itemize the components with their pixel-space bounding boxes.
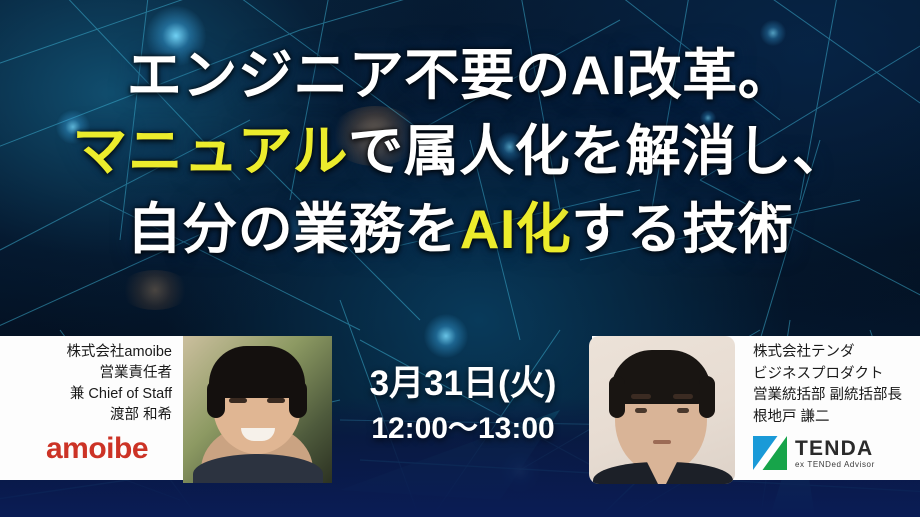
headline-line-3-post: する技術: [571, 198, 793, 260]
speaker-right-photo: [589, 336, 735, 484]
speaker-right-title: 営業統括部 副統括部長: [753, 385, 918, 407]
speaker-left-photo: [183, 336, 332, 483]
speaker-left-details: 株式会社amoibe 営業責任者 兼 Chief of Staff 渡部 和希: [0, 342, 178, 426]
tenda-wordmark: TENDA ex TENDed Advisor: [795, 438, 875, 469]
headline-accent-ai: AI化: [460, 198, 572, 260]
webinar-banner: エンジニア不要のAI改革。 マニュアルで属人化を解消し、 自分の業務をAI化する…: [0, 0, 920, 517]
tenda-mark-icon: [753, 436, 787, 470]
headline-line-2-rest: で属人化を解消し、: [348, 120, 848, 182]
speaker-right-details: 株式会社テンダ ビジネスプロダクト 営業統括部 副統括部長 根地戸 謙二: [753, 342, 918, 428]
event-time: 12:00〜13:00: [336, 408, 590, 450]
headline-line-1: エンジニア不要のAI改革。: [0, 38, 920, 112]
headline-block: エンジニア不要のAI改革。 マニュアルで属人化を解消し、 自分の業務をAI化する…: [0, 38, 920, 268]
headline-accent-manual: マニュアル: [72, 120, 348, 182]
event-datetime: 3月31日(火) 12:00〜13:00: [336, 360, 590, 450]
speaker-right-company: 株式会社テンダ: [753, 342, 918, 364]
speaker-right-name: 根地戸 謙二: [753, 407, 918, 429]
speaker-left-title-1: 営業責任者: [0, 363, 172, 384]
speaker-right-division: ビジネスプロダクト: [753, 364, 918, 386]
headline-line-3: 自分の業務をAI化する技術: [0, 190, 920, 268]
amoibe-logo: amoibe: [22, 432, 172, 466]
tenda-logo: TENDA ex TENDed Advisor: [753, 436, 875, 470]
speaker-left-company: 株式会社amoibe: [0, 342, 172, 363]
headline-line-2: マニュアルで属人化を解消し、: [0, 112, 920, 190]
event-date: 3月31日(火): [336, 360, 590, 408]
headline-line-3-pre: 自分の業務を: [127, 198, 460, 260]
speaker-left-name: 渡部 和希: [0, 405, 172, 426]
tenda-logo-name: TENDA: [795, 438, 875, 459]
tenda-logo-tagline: ex TENDed Advisor: [795, 461, 875, 469]
speaker-left-title-2: 兼 Chief of Staff: [0, 384, 172, 405]
warm-glow: [120, 270, 190, 310]
